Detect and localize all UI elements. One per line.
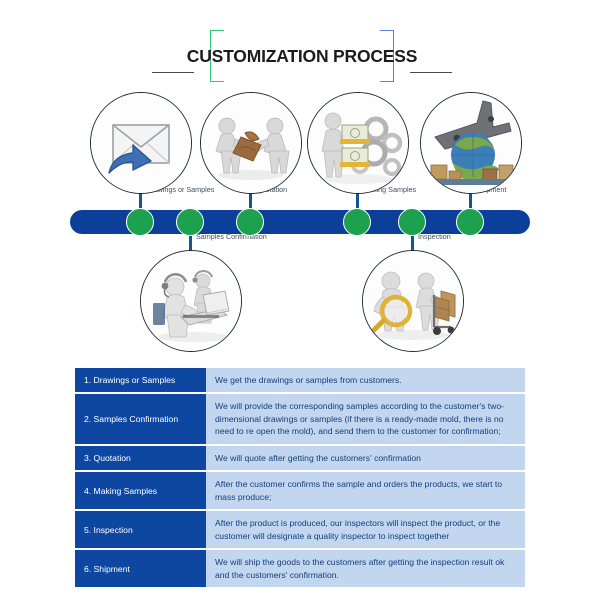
timeline-node-making-samples[interactable] [343, 208, 371, 236]
table-cell-step-name: 3. Quotation [75, 446, 206, 470]
table-cell-step-description: After the customer confirms the sample a… [206, 472, 525, 509]
bubble-shipment [420, 92, 522, 194]
table-cell-step-description: We get the drawings or samples from cust… [206, 368, 525, 392]
table-cell-step-description: After the product is produced, our inspe… [206, 511, 525, 548]
timeline-node-drawings-or-samples[interactable] [126, 208, 154, 236]
call-center-icon [141, 251, 241, 351]
money-gears-icon [308, 93, 408, 193]
bubble-samples-confirmation [140, 250, 242, 352]
table-cell-step-description: We will provide the corresponding sample… [206, 394, 525, 443]
plane-globe-cargo-icon [421, 93, 521, 193]
timeline-label-inspection: Inspection [418, 232, 451, 241]
table-cell-step-name: 5. Inspection [75, 511, 206, 548]
table-row: 5. Inspection After the product is produ… [75, 511, 525, 548]
timeline-node-quotation[interactable] [236, 208, 264, 236]
page-title: CUSTOMIZATION PROCESS [210, 30, 394, 82]
table-cell-step-description: We will ship the goods to the customers … [206, 550, 525, 587]
process-timeline: Drawings or Samples Samples Confirmation… [0, 90, 600, 360]
table-cell-step-name: 1. Drawings or Samples [75, 368, 206, 392]
table-row: 1. Drawings or Samples We get the drawin… [75, 368, 525, 392]
title-rule-right-icon [410, 72, 452, 73]
table-row: 2. Samples Confirmation We will provide … [75, 394, 525, 443]
table-cell-step-name: 4. Making Samples [75, 472, 206, 509]
page-header: CUSTOMIZATION PROCESS [0, 22, 600, 80]
table-cell-step-name: 2. Samples Confirmation [75, 394, 206, 443]
bubble-making-samples [307, 92, 409, 194]
envelope-reply-icon [91, 93, 191, 193]
bubble-inspection [362, 250, 464, 352]
bubble-quotation [200, 92, 302, 194]
timeline-node-shipment[interactable] [456, 208, 484, 236]
timeline-node-inspection[interactable] [398, 208, 426, 236]
process-description-table: 1. Drawings or Samples We get the drawin… [75, 366, 525, 589]
table-row: 6. Shipment We will ship the goods to th… [75, 550, 525, 587]
table-row: 4. Making Samples After the customer con… [75, 472, 525, 509]
bubble-drawings-or-samples [90, 92, 192, 194]
table-cell-step-description: We will quote after getting the customer… [206, 446, 525, 470]
timeline-node-samples-confirmation[interactable] [176, 208, 204, 236]
handshake-exchange-icon [201, 93, 301, 193]
table-row: 3. Quotation We will quote after getting… [75, 446, 525, 470]
title-bracket-frame: CUSTOMIZATION PROCESS [210, 30, 394, 82]
title-rule-left-icon [152, 72, 194, 73]
inspection-magnifier-icon [363, 251, 463, 351]
table-cell-step-name: 6. Shipment [75, 550, 206, 587]
